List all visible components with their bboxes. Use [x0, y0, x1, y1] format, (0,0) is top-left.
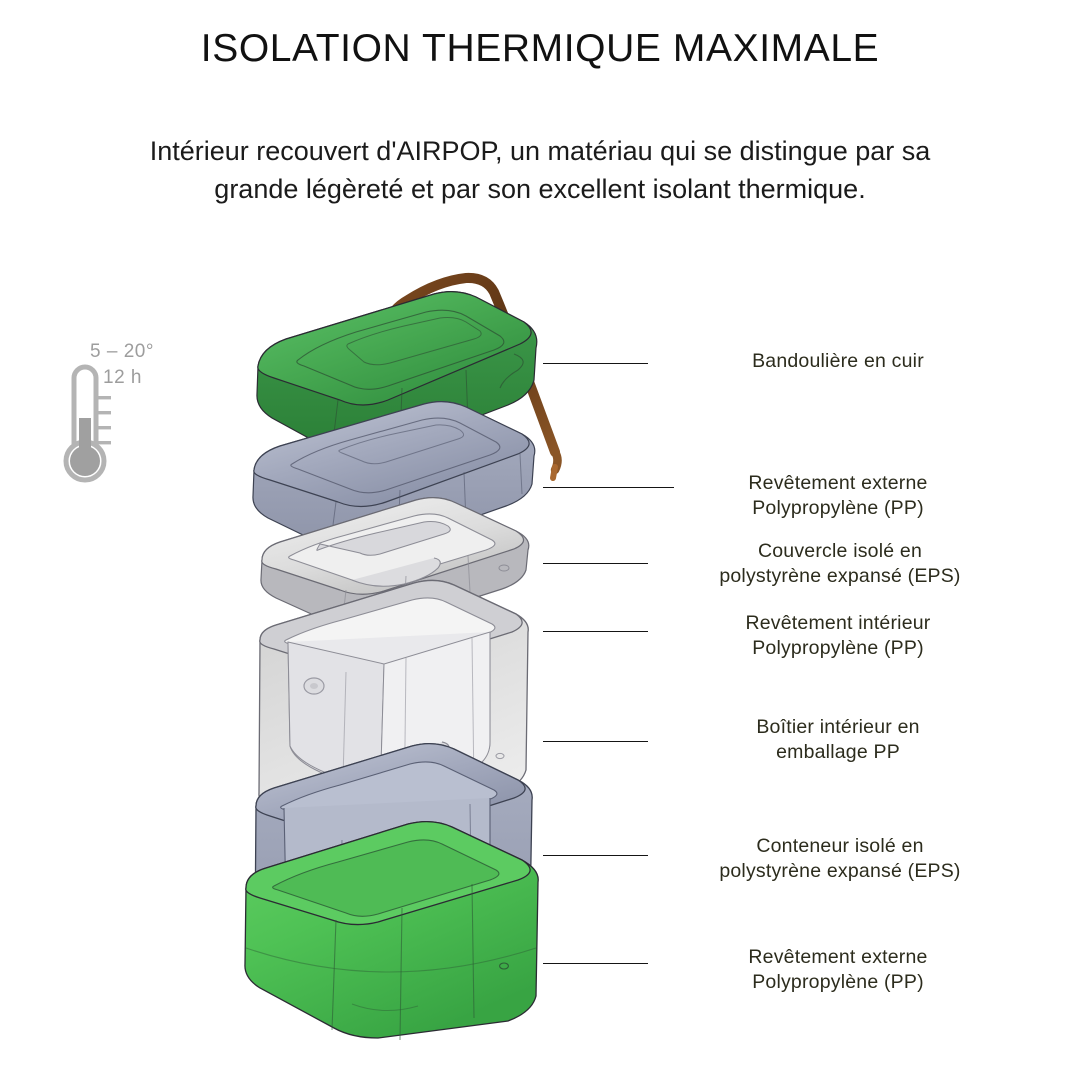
page-subtitle: Intérieur recouvert d'AIRPOP, un matéria… [50, 132, 1030, 208]
leader-line-revetement-ext-1 [543, 487, 674, 488]
subtitle-line-1: Intérieur recouvert d'AIRPOP, un matéria… [50, 132, 1030, 170]
subtitle-line-2: grande légèreté et par son excellent iso… [50, 170, 1030, 208]
leader-line-revetement-int [543, 631, 648, 632]
callout-bandouliere: Bandoulière en cuir [668, 349, 1008, 374]
callout-revetement-externe-1: Revêtement externe Polypropylène (PP) [668, 471, 1008, 521]
callout-conteneur-eps-line-2: polystyrène expansé (EPS) [650, 859, 1030, 884]
leader-line-conteneur-eps [543, 855, 648, 856]
infographic-page: ISOLATION THERMIQUE MAXIMALE Intérieur r… [0, 0, 1080, 1080]
callout-boitier-interieur-line-2: emballage PP [668, 740, 1008, 765]
callout-revetement-externe-2: Revêtement externe Polypropylène (PP) [668, 945, 1008, 995]
thermometer-block: 5 – 20° 12 h [48, 333, 188, 503]
thermometer-icon [52, 361, 118, 496]
page-title: ISOLATION THERMIQUE MAXIMALE [0, 27, 1080, 71]
callout-conteneur-eps: Conteneur isolé en polystyrène expansé (… [650, 834, 1030, 884]
leader-line-boitier-int [543, 741, 648, 742]
callout-revetement-interieur-line-1: Revêtement intérieur [668, 611, 1008, 636]
callout-conteneur-eps-line-1: Conteneur isolé en [650, 834, 1030, 859]
callout-boitier-interieur: Boîtier intérieur en emballage PP [668, 715, 1008, 765]
callout-revetement-interieur: Revêtement intérieur Polypropylène (PP) [668, 611, 1008, 661]
leader-line-bandouliere [543, 363, 648, 364]
callout-revetement-externe-1-line-1: Revêtement externe [668, 471, 1008, 496]
callout-boitier-interieur-line-1: Boîtier intérieur en [668, 715, 1008, 740]
callout-revetement-externe-1-line-2: Polypropylène (PP) [668, 496, 1008, 521]
leader-line-couvercle-eps [543, 563, 648, 564]
callout-revetement-interieur-line-2: Polypropylène (PP) [668, 636, 1008, 661]
temperature-range-label: 5 – 20° [90, 341, 190, 363]
callout-couvercle-eps-line-1: Couvercle isolé en [650, 539, 1030, 564]
callout-couvercle-eps-line-2: polystyrène expansé (EPS) [650, 564, 1030, 589]
callout-bandouliere-line-1: Bandoulière en cuir [668, 349, 1008, 374]
callout-revetement-externe-2-line-2: Polypropylène (PP) [668, 970, 1008, 995]
leader-line-revetement-ext-2 [543, 963, 648, 964]
callout-revetement-externe-2-line-1: Revêtement externe [668, 945, 1008, 970]
exploded-cooler-bag-diagram [228, 248, 698, 1048]
callout-couvercle-eps: Couvercle isolé en polystyrène expansé (… [650, 539, 1030, 589]
